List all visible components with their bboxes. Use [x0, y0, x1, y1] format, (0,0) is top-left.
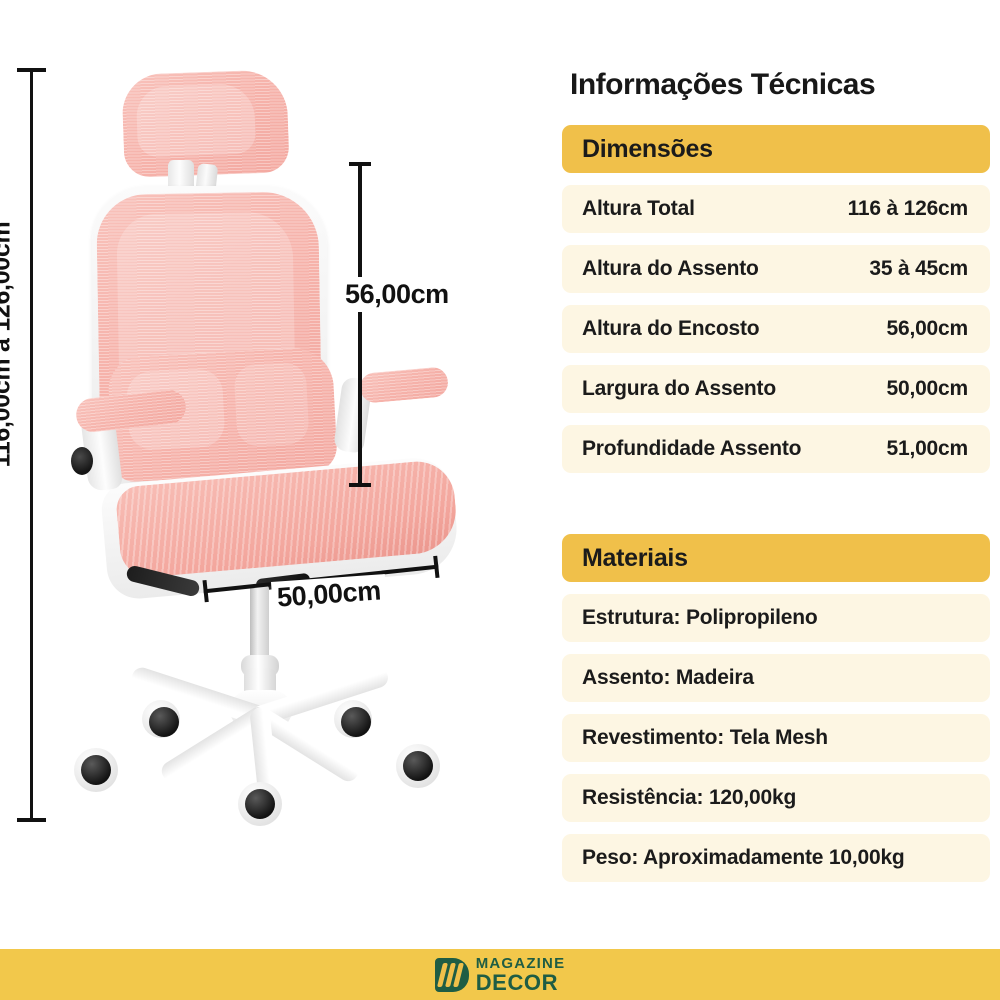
caster-wheel	[334, 700, 372, 738]
page-title: Informações Técnicas	[570, 68, 875, 102]
armrest-adjust-knob	[71, 447, 93, 475]
spec-label: Revestimento: Tela Mesh	[582, 726, 828, 750]
section-header-materiais: Materiais	[562, 534, 990, 582]
brand-name-line2: DECOR	[476, 972, 566, 994]
lumbar-inner-panel-right	[233, 362, 309, 448]
spec-label: Profundidade Assento	[582, 437, 801, 461]
section-dimensoes: Dimensões Altura Total 116 à 126cm Altur…	[562, 125, 990, 485]
office-chair-illustration	[0, 0, 540, 930]
gas-cylinder	[250, 585, 269, 663]
spec-value: 50,00cm	[886, 377, 968, 401]
table-row: Largura do Assento 50,00cm	[562, 365, 990, 413]
brand-name-line1: MAGAZINE	[476, 956, 566, 971]
spec-label: Largura do Assento	[582, 377, 776, 401]
headrest-inner-panel	[136, 83, 256, 157]
table-row: Assento: Madeira	[562, 654, 990, 702]
chair-headrest	[121, 69, 289, 178]
table-row: Peso: Aproximadamente 10,00kg	[562, 834, 990, 882]
table-row: Profundidade Assento 51,00cm	[562, 425, 990, 473]
spec-label: Estrutura: Polipropileno	[582, 606, 818, 630]
product-spec-sheet: 116,00cm à 126,00cm 56,00cm 50,00cm Info…	[0, 0, 1000, 1000]
section-materiais: Materiais Estrutura: Polipropileno Assen…	[562, 534, 990, 894]
caster-wheel	[142, 700, 180, 738]
product-image-pane: 116,00cm à 126,00cm 56,00cm 50,00cm	[0, 0, 540, 930]
backrest-height-dimension-line	[358, 162, 362, 487]
footer-bar: MAGAZINE DECOR	[0, 949, 1000, 1000]
caster-wheel	[238, 782, 282, 826]
section-header-label: Materiais	[582, 544, 688, 573]
brand-logo-text: MAGAZINE DECOR	[476, 956, 566, 994]
armrest-pad-right	[359, 366, 449, 404]
spec-value: 116 à 126cm	[848, 197, 968, 221]
table-row: Resistência: 120,00kg	[562, 774, 990, 822]
spec-label: Assento: Madeira	[582, 666, 754, 690]
table-row: Altura Total 116 à 126cm	[562, 185, 990, 233]
table-row: Revestimento: Tela Mesh	[562, 714, 990, 762]
table-row: Altura do Encosto 56,00cm	[562, 305, 990, 353]
backrest-height-label: 56,00cm	[341, 277, 453, 312]
spec-value: 51,00cm	[886, 437, 968, 461]
overall-height-dimension-line	[30, 68, 33, 822]
caster-wheel	[74, 748, 118, 792]
spec-label: Altura Total	[582, 197, 695, 221]
section-header-dimensoes: Dimensões	[562, 125, 990, 173]
spec-value: 35 à 45cm	[869, 257, 968, 281]
section-header-label: Dimensões	[582, 135, 713, 164]
specifications-pane: Informações Técnicas Dimensões Altura To…	[552, 0, 1000, 930]
brand-logo: MAGAZINE DECOR	[435, 956, 566, 994]
spec-label: Resistência: 120,00kg	[582, 786, 796, 810]
spec-value: 56,00cm	[886, 317, 968, 341]
caster-wheel	[396, 744, 440, 788]
overall-height-label: 116,00cm à 126,00cm	[0, 180, 17, 510]
spec-label: Altura do Encosto	[582, 317, 759, 341]
table-row: Estrutura: Polipropileno	[562, 594, 990, 642]
table-row: Altura do Assento 35 à 45cm	[562, 245, 990, 293]
spec-label: Altura do Assento	[582, 257, 759, 281]
magazine-decor-logo-icon	[435, 958, 469, 992]
spec-label: Peso: Aproximadamente 10,00kg	[582, 846, 905, 870]
